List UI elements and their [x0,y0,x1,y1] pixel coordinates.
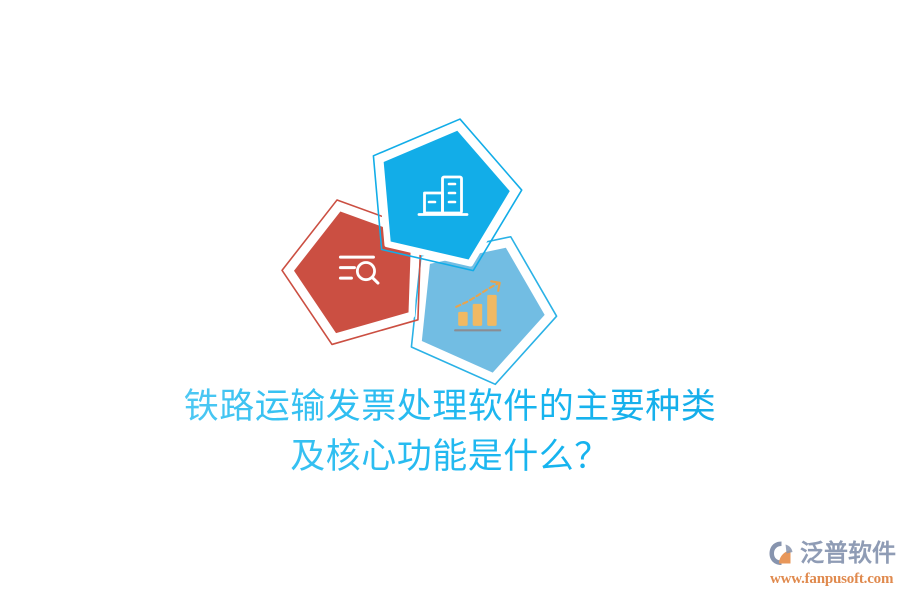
brand-logo[interactable]: 泛普软件 www.fanpusoft.com [768,536,896,592]
page-headline: 铁路运输发票处理软件的主要种类 及核心功能是什么？ [0,382,900,482]
headline-line-2: 及核心功能是什么？ [0,432,900,482]
brand-logo-row: 泛普软件 [768,536,896,570]
page-canvas: 铁路运输发票处理软件的主要种类 及核心功能是什么？ 泛普软件 www.fanpu… [0,0,900,600]
brand-url: www.fanpusoft.com [768,570,896,588]
brand-name: 泛普软件 [800,538,896,568]
pentagon-cluster-graphic [285,110,570,380]
fanpu-logo-icon [768,538,798,568]
headline-line-1: 铁路运输发票处理软件的主要种类 [0,382,900,432]
